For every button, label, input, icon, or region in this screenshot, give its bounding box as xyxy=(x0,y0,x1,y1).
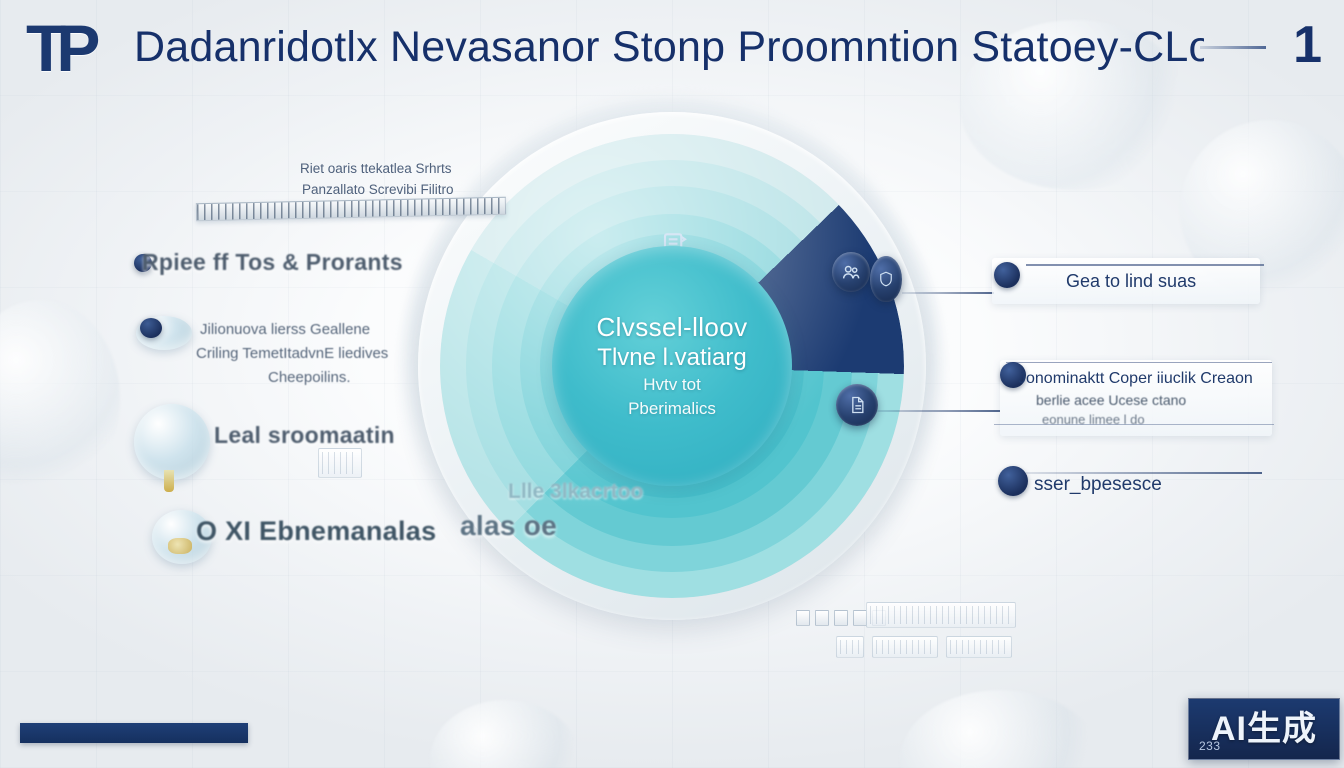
page-number-rule xyxy=(1200,46,1266,49)
ghost-blob-left xyxy=(0,300,120,500)
bottom-panel-b-lines xyxy=(876,640,934,654)
center-line-2: Tlvne l.vatiarg xyxy=(597,343,746,373)
legal-mini-panel xyxy=(318,448,362,478)
chip xyxy=(815,610,829,626)
callout-goals-text: Gea to lind suas xyxy=(1066,270,1196,292)
bottom-panel-c-lines xyxy=(950,640,1008,654)
bottom-panel-b xyxy=(872,636,938,658)
bottom-panel-a xyxy=(836,636,864,658)
callout-dominant-line-1: Jonominaktt Coper iiuclik Creaon xyxy=(1018,368,1253,390)
watermark-sub: 233 xyxy=(1199,739,1221,753)
watermark-badge: AI生成 233 xyxy=(1188,698,1340,760)
logo-mark: TP xyxy=(26,12,122,84)
fundamentals-orb-accent xyxy=(168,538,192,554)
document-icon[interactable] xyxy=(836,384,878,426)
callout-dominant-line-3: eonune limee l do xyxy=(1042,409,1145,431)
watermark-text: AI生成 xyxy=(1211,710,1317,748)
center-line-3: Hvtv tot xyxy=(643,373,701,397)
callout-ruler-line-1: Riet oaris ttekatlea Srhrts xyxy=(300,160,452,178)
bottom-panel-a-lines xyxy=(840,640,860,654)
bottom-accent-bar xyxy=(20,723,248,743)
shield-icon[interactable] xyxy=(870,256,902,302)
bottom-panel-wide xyxy=(866,602,1016,628)
center-band-left: Llle 3lkacrtoo xyxy=(508,482,643,502)
page-title: Dadanridotlx Nevasanor Stonp Proomntion … xyxy=(134,16,1204,78)
callout-ruler-line-2: Panzallato Screvibi Filitro xyxy=(302,181,454,199)
page-number: 1 xyxy=(1262,16,1322,78)
bottom-panel-c xyxy=(946,636,1012,658)
center-line-1: Clvssel-lloov xyxy=(596,312,747,343)
header: TP Dadanridotlx Nevasanor Stonp Proomnti… xyxy=(0,0,1344,100)
legal-mini-panel-lines xyxy=(322,452,358,474)
callout-dominant-topline xyxy=(1006,362,1272,363)
ghost-blob-bottomright xyxy=(900,690,1100,768)
chip xyxy=(853,610,867,626)
callout-dominant-bottomline xyxy=(994,424,1274,425)
center-line-4: Pberimalics xyxy=(628,397,716,421)
donut-chart: Clvssel-lloov Tlvne l.vatiarg Hvtv tot P… xyxy=(418,112,926,620)
callout-guideline-line-3: Cheepoilins. xyxy=(268,368,351,388)
callout-legal-text: Leal sroomaatin xyxy=(214,422,395,449)
legal-orb-stem xyxy=(164,470,174,492)
callout-guideline-line-1: Jilionuova lierss Geallene xyxy=(200,320,370,340)
center-band-right: alas oe xyxy=(460,512,557,539)
chip xyxy=(796,610,810,626)
poster-canvas: TP Dadanridotlx Nevasanor Stonp Proomnti… xyxy=(0,0,1344,768)
callout-guideline-line-2: Criling TemetItadvnE liedives xyxy=(196,344,388,364)
people-icon[interactable] xyxy=(832,252,870,292)
callout-goals-leader xyxy=(902,292,994,294)
callout-goals-underline xyxy=(1026,264,1264,266)
ghost-blob-bottom xyxy=(430,700,580,768)
guideline-dot-icon xyxy=(140,318,162,338)
target-dot-icon xyxy=(994,262,1020,288)
callout-roles-text: Rpiee ff Tos & Prorants xyxy=(142,249,403,276)
bottom-panel-wide-lines xyxy=(870,606,1012,624)
callout-dominant-line-2: berlie acee Ucese ctano xyxy=(1036,389,1186,411)
callout-fundamentals-text: O XI Ebnemanalas xyxy=(196,518,436,545)
donut-center: Clvssel-lloov Tlvne l.vatiarg Hvtv tot P… xyxy=(552,246,792,486)
callout-dominant-leader xyxy=(876,410,1000,412)
chip xyxy=(834,610,848,626)
user-dot-icon xyxy=(998,466,1028,496)
callout-user-text: sser_bpesesce xyxy=(1034,474,1162,496)
legal-orb-icon xyxy=(134,404,210,480)
